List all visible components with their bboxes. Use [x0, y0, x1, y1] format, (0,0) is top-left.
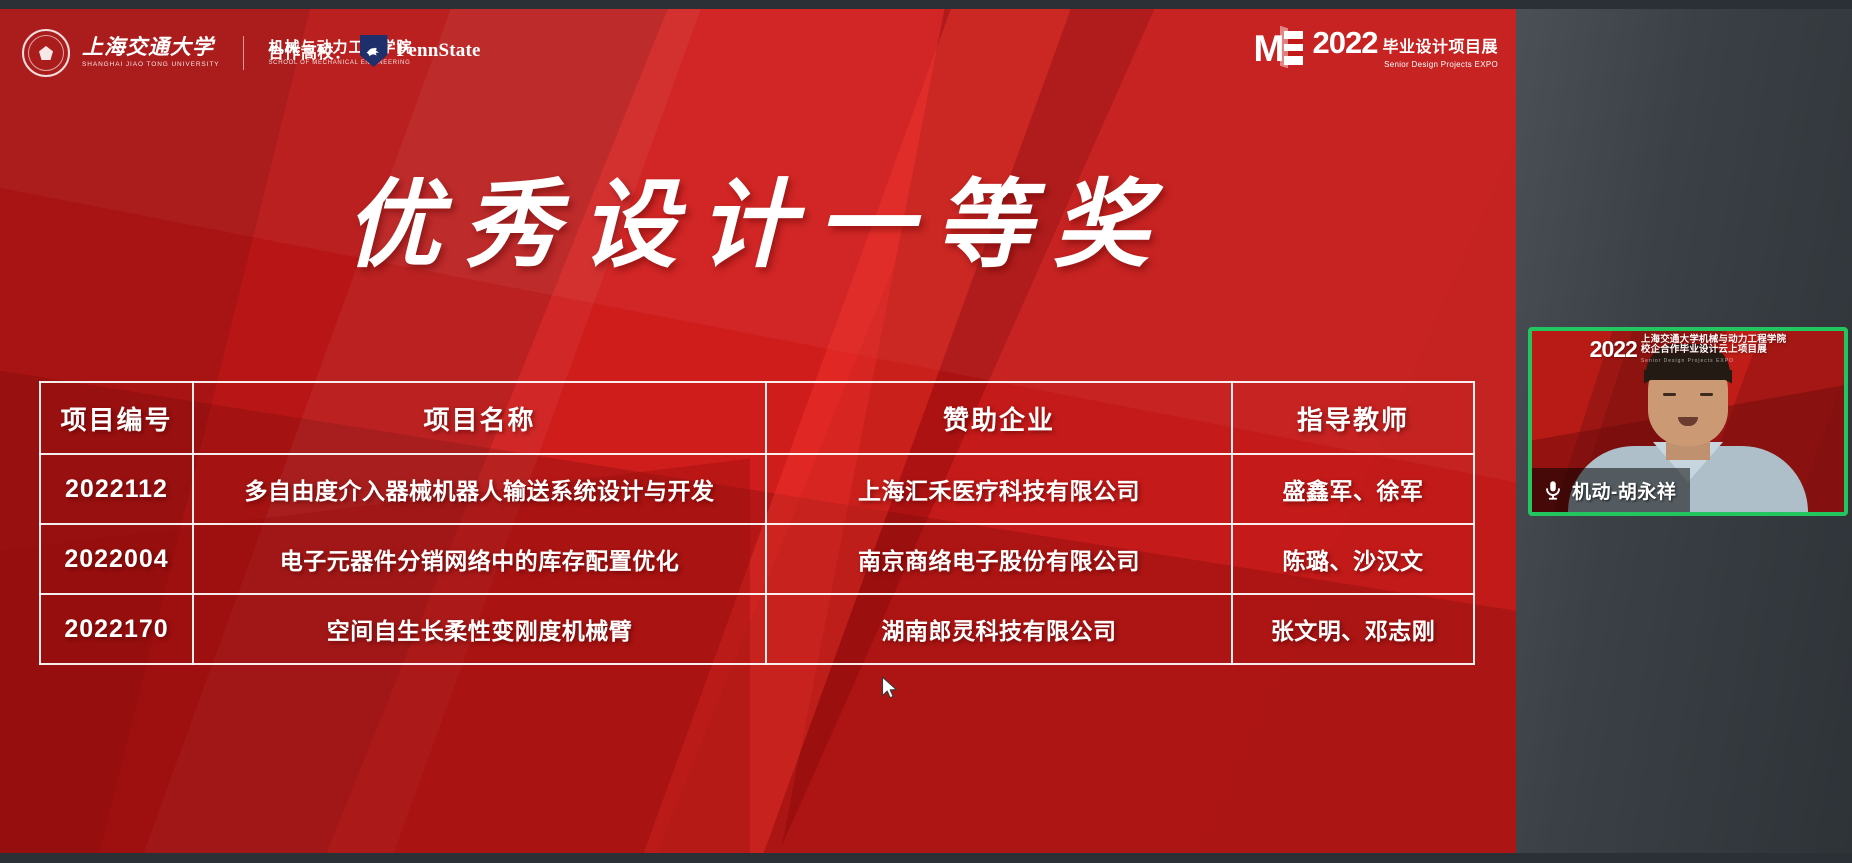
cell-teacher: 盛鑫军、徐军 [1232, 454, 1474, 524]
slide-header: 上海交通大学 SHANGHAI JIAO TONG UNIVERSITY 机械与… [0, 9, 1516, 89]
university-name-en: SHANGHAI JIAO TONG UNIVERSITY [82, 62, 219, 69]
cell-project-id: 2022112 [40, 454, 193, 524]
partner-name: PennState [397, 40, 481, 62]
partner-label: 合作高校： [268, 39, 351, 63]
table-row: 2022112 多自由度介入器械机器人输送系统设计与开发 上海汇禾医疗科技有限公… [40, 454, 1474, 524]
cell-sponsor: 南京商络电子股份有限公司 [766, 524, 1232, 594]
awards-table: 项目编号 项目名称 赞助企业 指导教师 2022112 多自由度介入器械机器人输… [39, 381, 1475, 665]
partner-university-block: 合作高校： PennState [268, 35, 481, 67]
slide-title: 优秀设计一等奖 [0, 147, 1516, 286]
university-name-cn: 上海交通大学 [82, 37, 219, 58]
microphone-icon [1542, 479, 1564, 501]
table-row: 2022170 空间自生长柔性变刚度机械臂 湖南郎灵科技有限公司 张文明、邓志刚 [40, 594, 1474, 664]
cell-teacher: 张文明、邓志刚 [1232, 594, 1474, 664]
expo-year: 2022 [1313, 27, 1378, 58]
me-monogram-icon: M [1254, 27, 1304, 69]
cell-project-name: 空间自生长柔性变刚度机械臂 [193, 594, 766, 664]
expo-title-cn: 毕业设计项目展 [1382, 40, 1498, 58]
video-backdrop-banner: 2022 上海交通大学机械与动力工程学院 校企合作毕业设计云上项目展 Senio… [1532, 335, 1844, 364]
cell-sponsor: 上海汇禾医疗科技有限公司 [766, 454, 1232, 524]
table-header-row: 项目编号 项目名称 赞助企业 指导教师 [40, 382, 1474, 454]
table-row: 2022004 电子元器件分销网络中的库存配置优化 南京商络电子股份有限公司 陈… [40, 524, 1474, 594]
cell-project-id: 2022170 [40, 594, 193, 664]
cell-project-name: 多自由度介入器械机器人输送系统设计与开发 [193, 454, 766, 524]
column-header-project-name: 项目名称 [193, 382, 766, 454]
meeting-window: 上海交通大学 SHANGHAI JIAO TONG UNIVERSITY 机械与… [0, 0, 1852, 863]
shared-screen-slide[interactable]: 上海交通大学 SHANGHAI JIAO TONG UNIVERSITY 机械与… [0, 9, 1516, 853]
window-top-strip [0, 0, 1852, 9]
pennstate-shield-icon [360, 35, 388, 67]
backdrop-year: 2022 [1590, 338, 1637, 361]
column-header-teacher: 指导教师 [1232, 382, 1474, 454]
participant-name: 机动-胡永祥 [1572, 477, 1676, 504]
participant-name-badge: 机动-胡永祥 [1532, 468, 1690, 512]
video-tile-active-speaker[interactable]: 2022 上海交通大学机械与动力工程学院 校企合作毕业设计云上项目展 Senio… [1528, 327, 1848, 516]
window-bottom-strip [0, 853, 1852, 863]
sjtu-name-group: 上海交通大学 SHANGHAI JIAO TONG UNIVERSITY [82, 37, 219, 69]
cell-project-name: 电子元器件分销网络中的库存配置优化 [193, 524, 766, 594]
expo-logo-block: M 2022 毕业设计项目展 Senior Design Projects EX… [1254, 27, 1498, 69]
header-divider [243, 36, 244, 70]
expo-title-en: Senior Design Projects EXPO [1313, 61, 1498, 69]
column-header-project-id: 项目编号 [40, 382, 193, 454]
backdrop-line-2: 校企合作毕业设计云上项目展 [1641, 345, 1787, 355]
backdrop-line-en: Senior Design Projects EXPO [1641, 359, 1787, 364]
cell-teacher: 陈璐、沙汉文 [1232, 524, 1474, 594]
expo-text-group: 2022 毕业设计项目展 Senior Design Projects EXPO [1313, 27, 1498, 69]
cell-sponsor: 湖南郎灵科技有限公司 [766, 594, 1232, 664]
column-header-sponsor: 赞助企业 [766, 382, 1232, 454]
sjtu-seal-icon [22, 29, 70, 77]
cell-project-id: 2022004 [40, 524, 193, 594]
